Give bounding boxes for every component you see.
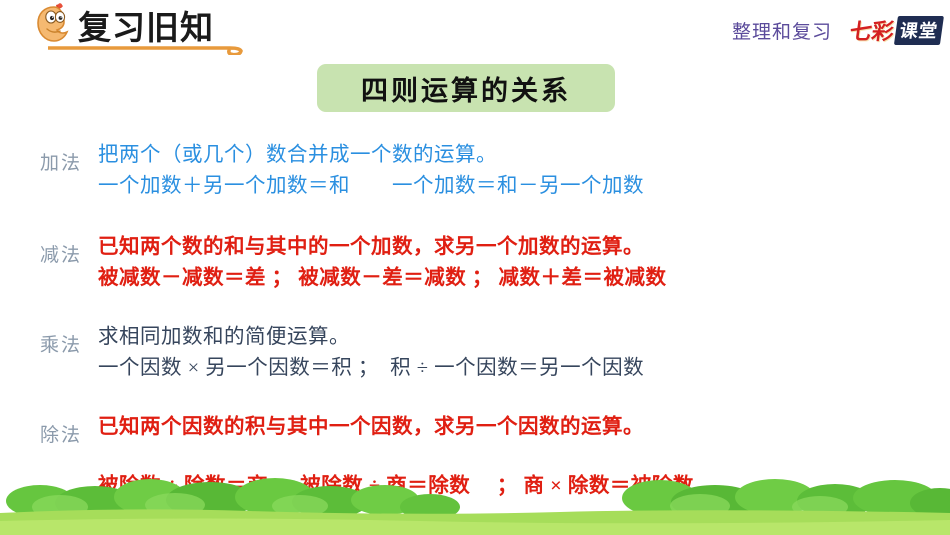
lesson-title-banner: 四则运算的关系 <box>317 64 615 112</box>
header-right-group: 整理和复习 七彩 课堂 <box>732 14 942 46</box>
cartoon-character-icon <box>34 2 74 46</box>
lesson-title-text: 四则运算的关系 <box>361 69 571 108</box>
row-body-addition: 把两个（或几个）数合并成一个数的运算。 一个加数＋另一个加数＝和 一个加数＝和－… <box>96 140 950 202</box>
grass-and-bushes-decoration <box>0 467 950 535</box>
content-rows: 加法 把两个（或几个）数合并成一个数的运算。 一个加数＋另一个加数＝和 一个加数… <box>0 128 950 502</box>
row-label-multiplication: 乘法 <box>0 322 96 357</box>
row-body-subtraction: 已知两个数的和与其中的一个加数，求另一个加数的运算。 被减数－减数＝差 ； 被减… <box>96 232 950 294</box>
brand-logo-colorful: 七彩 <box>848 14 897 46</box>
row-formula-subtraction: 被减数－减数＝差 ； 被减数－差＝减数 ； 减数＋差＝被减数 <box>98 263 950 294</box>
row-label-division: 除法 <box>0 412 96 447</box>
row-formula-addition: 一个加数＋另一个加数＝和 一个加数＝和－另一个加数 <box>98 171 950 202</box>
row-label-subtraction: 减法 <box>0 232 96 267</box>
unit-label: 整理和复习 <box>732 17 832 44</box>
row-definition-subtraction: 已知两个数的和与其中的一个加数，求另一个加数的运算。 <box>98 232 950 263</box>
slide-canvas: 复习旧知 整理和复习 七彩 课堂 四则运算的关系 加法 把两个（或几个）数合并成… <box>0 0 950 535</box>
row-definition-division: 已知两个因数的积与其中一个因数，求另一个因数的运算。 <box>98 412 950 443</box>
brand-logo: 七彩 课堂 <box>848 14 945 46</box>
row-subtraction: 减法 已知两个数的和与其中的一个加数，求另一个加数的运算。 被减数－减数＝差 ；… <box>0 232 950 294</box>
brand-logo-dark: 课堂 <box>894 16 944 45</box>
row-multiplication: 乘法 求相同加数和的简便运算。 一个因数 × 另一个因数＝积 ； 积 ÷ 一个因… <box>0 322 950 384</box>
row-formula-multiplication: 一个因数 × 另一个因数＝积 ； 积 ÷ 一个因数＝另一个因数 <box>98 353 950 384</box>
header-underline-swoosh <box>48 41 248 55</box>
row-body-multiplication: 求相同加数和的简便运算。 一个因数 × 另一个因数＝积 ； 积 ÷ 一个因数＝另… <box>96 322 950 384</box>
slide-header: 复习旧知 整理和复习 七彩 课堂 <box>0 0 950 58</box>
row-addition: 加法 把两个（或几个）数合并成一个数的运算。 一个加数＋另一个加数＝和 一个加数… <box>0 140 950 202</box>
row-label-addition: 加法 <box>0 140 96 175</box>
row-definition-multiplication: 求相同加数和的简便运算。 <box>98 322 950 353</box>
row-definition-addition: 把两个（或几个）数合并成一个数的运算。 <box>98 140 950 171</box>
